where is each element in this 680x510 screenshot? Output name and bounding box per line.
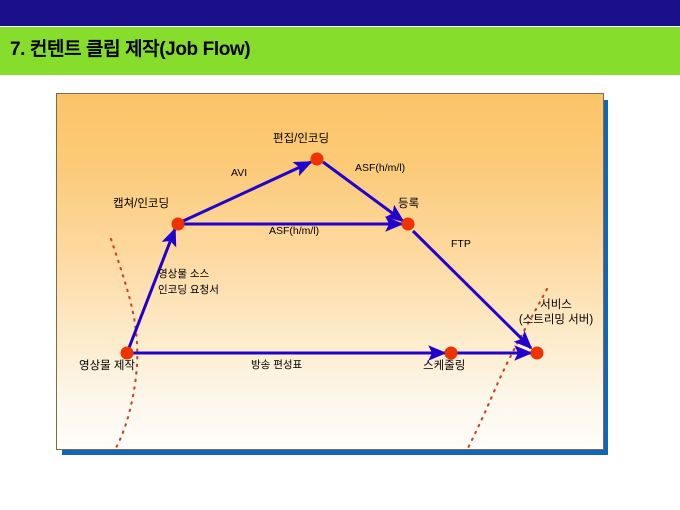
node-service[interactable]: [531, 347, 544, 360]
edge-register-to-service: [413, 231, 531, 348]
node-label-service-line2: (스트리밍 서버): [494, 314, 604, 328]
presentation-slide: 7. 컨텐트 클립 제작(Job Flow): [0, 0, 680, 510]
top-accent-bar: [0, 0, 680, 26]
node-label-edit: 편집/인코딩: [273, 133, 329, 147]
node-label-register: 등록: [398, 198, 419, 212]
diagram-graphics: [57, 94, 603, 449]
node-label-production: 영상물 제작: [79, 360, 135, 374]
node-register[interactable]: [402, 218, 415, 231]
node-label-scheduling: 스케줄링: [423, 360, 465, 374]
page-title: 7. 컨텐트 클립 제작(Job Flow): [10, 34, 250, 61]
dotted-curve-right: [465, 289, 547, 449]
node-edit[interactable]: [311, 153, 324, 166]
edge-label-avi: AVI: [231, 167, 247, 179]
node-scheduling[interactable]: [445, 347, 458, 360]
edge-label-source-request-line2: 인코딩 요청서: [158, 282, 219, 297]
edge-label-broadcast-schedule: 방송 편성표: [251, 357, 302, 372]
edge-label-asf-top: ASF(h/m/l): [355, 162, 405, 174]
node-capture[interactable]: [172, 218, 185, 231]
job-flow-diagram: 영상물 제작 캡쳐/인코딩 편집/인코딩 등록 스케줄링 서비스 (스트리밍 서…: [56, 93, 604, 450]
edge-label-asf-mid: ASF(h/m/l): [269, 225, 319, 237]
edge-label-source-request-line1: 영상물 소스: [158, 266, 209, 281]
node-label-service-line1: 서비스: [500, 299, 604, 313]
edge-label-ftp: FTP: [451, 238, 471, 250]
node-label-capture: 캡쳐/인코딩: [113, 198, 169, 212]
dotted-curve-left: [109, 239, 137, 449]
node-production[interactable]: [121, 347, 134, 360]
